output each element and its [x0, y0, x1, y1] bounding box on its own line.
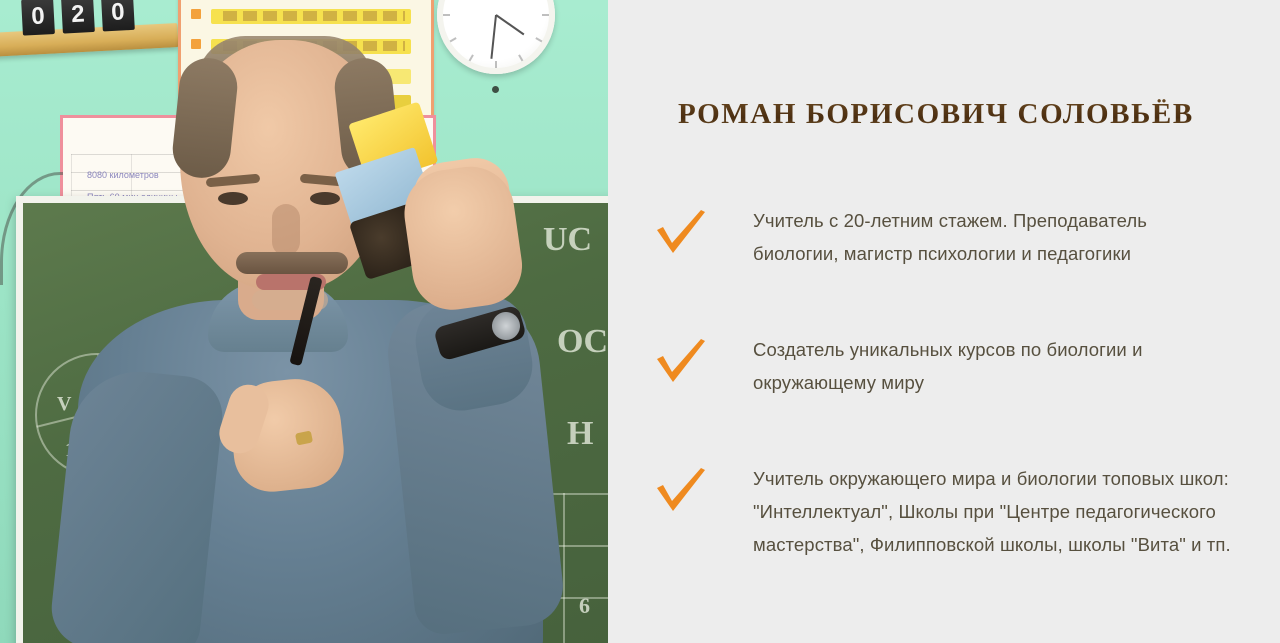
person-figure [0, 0, 608, 643]
list-item: Учитель окружающего мира и биологии топо… [655, 454, 1265, 561]
list-item: Создатель уникальных курсов по биологии … [655, 325, 1265, 399]
page-title: РОМАН БОРИСОВИЧ СОЛОВЬЁВ [678, 98, 1258, 131]
check-icon [655, 468, 707, 516]
speaker-photo: 0 2 0 ТАБЛ 8080 километров Пять 60 мин е… [0, 0, 608, 643]
person-eye-right [310, 192, 340, 205]
content-panel: РОМАН БОРИСОВИЧ СОЛОВЬЁВ Учитель с 20-ле… [608, 0, 1280, 643]
credentials-list: Учитель с 20-летним стажем. Преподавател… [655, 196, 1265, 561]
list-item-text: Учитель окружающего мира и биологии топо… [753, 454, 1265, 561]
check-icon [655, 339, 707, 387]
list-item: Учитель с 20-летним стажем. Преподавател… [655, 196, 1265, 270]
person-nose [272, 204, 300, 256]
person-eye-left [218, 192, 248, 205]
check-icon [655, 210, 707, 258]
list-item-text: Учитель с 20-летним стажем. Преподавател… [753, 196, 1265, 270]
person-arm-left [48, 365, 226, 643]
presentation-slide: 0 2 0 ТАБЛ 8080 километров Пять 60 мин е… [0, 0, 1280, 643]
person-mustache [236, 252, 348, 274]
list-item-text: Создатель уникальных курсов по биологии … [753, 325, 1265, 399]
